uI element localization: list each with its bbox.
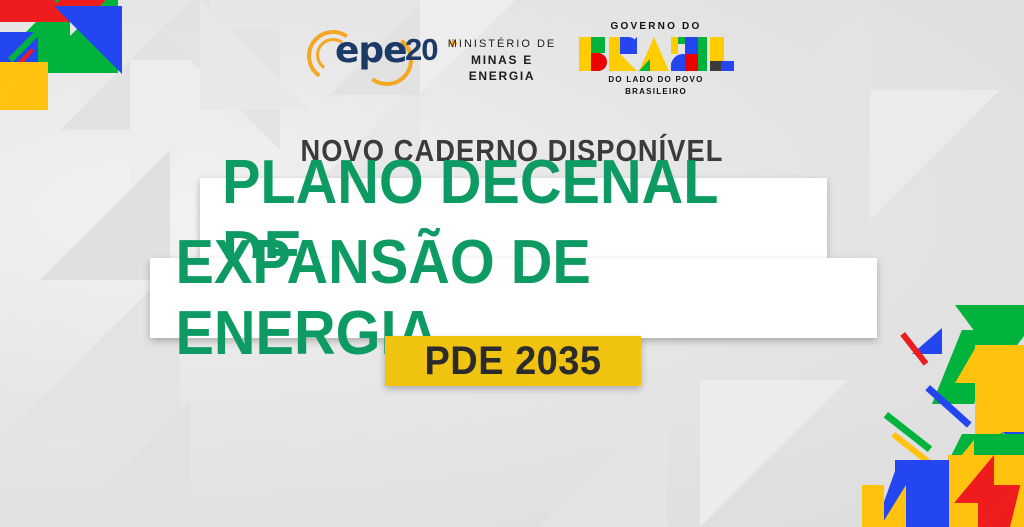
epe-anniversary-number: 20 — [405, 34, 437, 65]
header-logo-bar: epe 20 + MINISTÉRIO DE MINAS E ENERGIA G… — [0, 0, 1024, 104]
pde-year-badge: PDE 2035 — [385, 336, 641, 386]
title-line-2: EXPANSÃO DE ENERGIA — [175, 258, 851, 338]
ministry-line-1: MINISTÉRIO DE — [437, 36, 567, 52]
brasil-wordmark — [579, 37, 734, 71]
governo-bottom-line: DO LADO DO POVO BRASILEIRO — [576, 74, 736, 98]
title-panel-line-2: EXPANSÃO DE ENERGIA — [150, 258, 877, 338]
governo-do-brasil-logo: GOVERNO DO — [576, 20, 736, 98]
banner-root: epe 20 + MINISTÉRIO DE MINAS E ENERGIA G… — [0, 0, 1024, 527]
pde-year-badge-label: PDE 2035 — [391, 336, 634, 386]
governo-top-line: GOVERNO DO — [576, 20, 736, 34]
epe-logo: epe 20 + — [305, 28, 435, 80]
epe-wordmark: epe — [335, 33, 407, 69]
ministry-line-2: MINAS E ENERGIA — [437, 52, 567, 84]
ministerio-minas-energia-logo: MINISTÉRIO DE MINAS E ENERGIA — [437, 36, 567, 84]
